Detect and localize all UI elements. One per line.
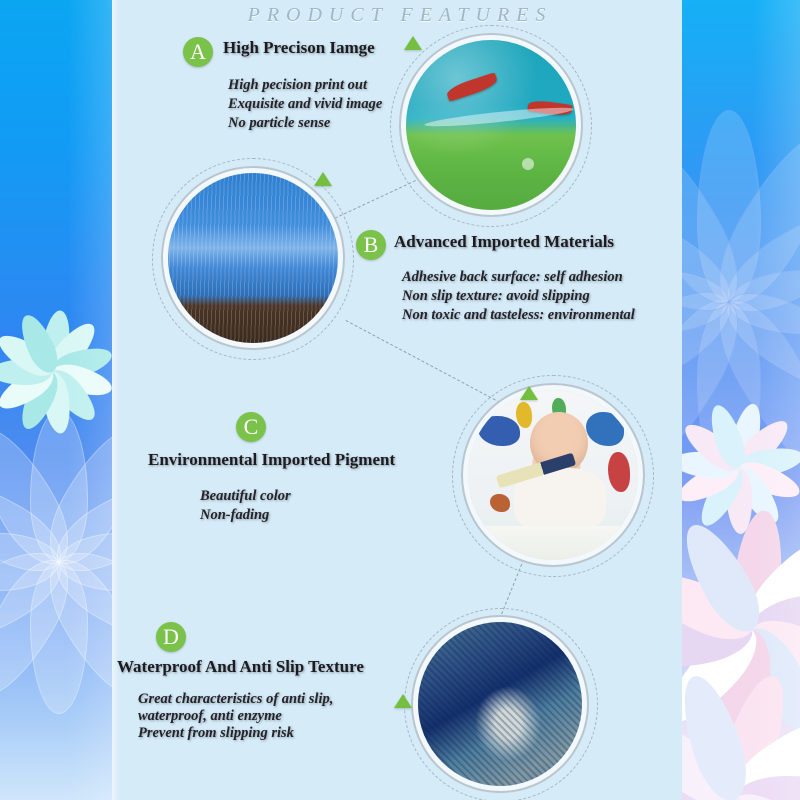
arrow-marker-d bbox=[394, 694, 412, 708]
petal bbox=[697, 302, 761, 494]
petal bbox=[45, 461, 113, 587]
petal bbox=[0, 416, 84, 577]
petal bbox=[682, 781, 748, 800]
petal bbox=[0, 328, 59, 383]
blue-fabric-artwork bbox=[168, 173, 338, 343]
petal bbox=[682, 669, 757, 800]
photo-fish-pond bbox=[406, 40, 576, 210]
petal bbox=[48, 342, 112, 385]
paint-splatter bbox=[490, 494, 510, 512]
petal bbox=[682, 608, 757, 678]
petal bbox=[733, 456, 800, 505]
baby-painting-artwork bbox=[468, 390, 638, 560]
section-b-line-1: Adhesive back surface: self adhesion bbox=[402, 268, 623, 287]
petal bbox=[682, 270, 729, 334]
petal bbox=[682, 456, 744, 509]
water-texture-artwork bbox=[418, 622, 582, 786]
product-features-infographic: PRODUCT FEATURES A High Precison Iamge H… bbox=[0, 0, 800, 800]
water-ripple bbox=[424, 104, 574, 130]
petal bbox=[713, 274, 800, 425]
section-a-heading: High Precison Iamge bbox=[223, 38, 375, 58]
petal bbox=[747, 583, 800, 653]
section-d-heading: Waterproof And Anti Slip Texture bbox=[117, 657, 364, 677]
section-d-line-3: Prevent from slipping risk bbox=[138, 724, 294, 743]
section-a-line-1: High pecision print out bbox=[228, 76, 367, 95]
petal bbox=[39, 370, 74, 435]
paper-floor bbox=[468, 526, 638, 560]
section-c-heading: Environmental Imported Pigment bbox=[148, 450, 395, 470]
petal bbox=[682, 120, 757, 318]
petal bbox=[682, 515, 772, 642]
petal bbox=[30, 562, 88, 714]
petal bbox=[30, 410, 88, 562]
petal bbox=[0, 548, 84, 709]
petal bbox=[0, 359, 52, 385]
left-decorative-border bbox=[0, 0, 112, 800]
petal bbox=[701, 286, 800, 484]
petal bbox=[42, 317, 102, 381]
photo-water-texture bbox=[418, 622, 582, 786]
petal bbox=[727, 461, 786, 530]
petal bbox=[0, 461, 74, 587]
petal bbox=[729, 413, 795, 477]
petal bbox=[59, 533, 112, 591]
paint-splatter bbox=[478, 416, 520, 446]
badge-letter-a: A bbox=[183, 37, 213, 67]
photo-baby-painting bbox=[468, 390, 638, 560]
arrow-marker-c bbox=[520, 386, 538, 400]
badge-letter-d: D bbox=[156, 622, 186, 652]
petal bbox=[14, 310, 64, 377]
section-b-line-2: Non slip texture: avoid slipping bbox=[402, 287, 590, 306]
petal bbox=[736, 443, 800, 481]
petal bbox=[743, 609, 800, 700]
petal bbox=[682, 178, 745, 329]
section-a-line-3: No particle sense bbox=[228, 114, 330, 133]
petal bbox=[0, 361, 59, 417]
petal bbox=[725, 401, 766, 471]
petal bbox=[711, 793, 797, 800]
petal bbox=[42, 363, 102, 427]
section-c-line-1: Beautiful color bbox=[200, 487, 291, 506]
badge-letter-b: B bbox=[356, 230, 386, 260]
petal bbox=[45, 537, 113, 663]
right-decorative-border bbox=[682, 0, 800, 800]
petal bbox=[682, 704, 748, 800]
petal bbox=[735, 525, 800, 645]
petal bbox=[682, 560, 761, 651]
paint-splatter bbox=[586, 412, 624, 446]
petal bbox=[729, 270, 800, 334]
petal bbox=[682, 793, 757, 800]
paint-splatter bbox=[516, 402, 532, 428]
fish-shape bbox=[445, 72, 499, 101]
section-b-line-3: Non toxic and tasteless: environmental bbox=[402, 306, 635, 325]
petal bbox=[732, 619, 800, 746]
petal bbox=[15, 367, 64, 434]
petal bbox=[717, 628, 775, 752]
petal bbox=[729, 508, 787, 632]
petal bbox=[34, 548, 112, 709]
badge-letter-c: C bbox=[236, 412, 266, 442]
petal bbox=[701, 120, 800, 318]
fish-pond-artwork bbox=[406, 40, 576, 210]
paint-splatter bbox=[608, 452, 630, 492]
petal bbox=[682, 448, 739, 481]
petal bbox=[704, 401, 750, 472]
content-panel: PRODUCT FEATURES A High Precison Iamge H… bbox=[118, 0, 682, 800]
petal bbox=[682, 417, 746, 478]
bubble bbox=[522, 158, 534, 170]
petal bbox=[720, 704, 800, 800]
arrow-marker-a bbox=[404, 36, 422, 50]
arrow-marker-b bbox=[314, 172, 332, 186]
petal bbox=[693, 461, 749, 531]
section-b-heading: Advanced Imported Materials bbox=[394, 232, 614, 252]
petal bbox=[34, 416, 112, 577]
petal bbox=[0, 533, 59, 591]
petal bbox=[711, 669, 797, 800]
petal bbox=[39, 309, 73, 374]
petal bbox=[725, 467, 754, 534]
petal bbox=[720, 781, 800, 800]
petal bbox=[0, 537, 74, 663]
section-a-line-2: Exquisite and vivid image bbox=[228, 95, 382, 114]
section-c-line-2: Non-fading bbox=[200, 506, 269, 525]
petal bbox=[713, 178, 800, 329]
petal bbox=[682, 615, 769, 735]
petal bbox=[697, 110, 761, 302]
petal bbox=[734, 776, 800, 800]
petal bbox=[682, 776, 734, 800]
petal bbox=[682, 274, 745, 425]
petal bbox=[682, 286, 757, 484]
photo-blue-fabric bbox=[168, 173, 338, 343]
page-title: PRODUCT FEATURES bbox=[118, 4, 682, 27]
petal bbox=[48, 360, 112, 402]
